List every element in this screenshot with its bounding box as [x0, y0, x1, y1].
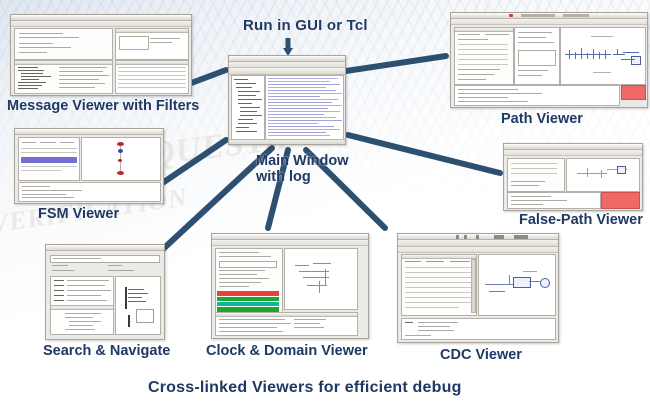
fsm-state-node[interactable] [118, 159, 122, 162]
label-message-viewer: Message Viewer with Filters [7, 98, 199, 114]
path-highlight-block [621, 85, 646, 100]
clock-domain-row-ok-2[interactable] [217, 302, 279, 306]
message-tree-pane[interactable] [14, 60, 113, 94]
menubar [504, 150, 642, 156]
connector-main-to-path [346, 56, 446, 71]
label-cdc-viewer: CDC Viewer [440, 347, 522, 363]
titlebar [504, 144, 642, 150]
window-clock-domain-viewer[interactable] [211, 233, 369, 339]
toolbar[interactable] [398, 240, 558, 247]
filter-form-pane[interactable] [14, 28, 113, 60]
label-false-path-viewer: False-Path Viewer [519, 212, 643, 228]
clock-domain-row-ok-1[interactable] [217, 297, 279, 301]
titlebar [11, 15, 191, 21]
path-list-pane[interactable] [514, 27, 560, 85]
filter-input-pane[interactable] [115, 28, 189, 60]
path-log-pane[interactable] [454, 85, 620, 106]
search-input[interactable] [50, 255, 160, 263]
titlebar [15, 129, 163, 135]
false-path-highlight-block [601, 192, 640, 209]
cdc-table-pane[interactable] [401, 254, 477, 316]
window-cdc-viewer[interactable] [397, 233, 559, 343]
titlebar [451, 13, 647, 19]
false-path-schematic-pane[interactable] [566, 158, 640, 192]
label-main-window: Main Window with log [256, 153, 349, 185]
design-tree-pane[interactable] [231, 75, 265, 142]
clock-schematic-graphic [285, 249, 357, 309]
window-search-navigate[interactable] [45, 244, 165, 340]
toolbar[interactable] [229, 68, 345, 75]
log-pane[interactable] [265, 75, 344, 142]
path-schematic-graphic [561, 28, 645, 84]
titlebar [212, 234, 368, 240]
message-table-pane[interactable] [115, 60, 189, 94]
diagram-canvas: MENTOR QUESTA VERIFICATION Run in GUI or… [0, 0, 650, 402]
window-path-viewer[interactable] [450, 12, 648, 108]
label-search-navigate: Search & Navigate [43, 343, 170, 359]
navigate-graphic [116, 277, 160, 334]
fsm-state-table-pane[interactable] [18, 137, 80, 181]
label-main-window-line1: Main Window [256, 153, 349, 169]
false-path-schematic-graphic [567, 159, 639, 191]
label-main-window-line2: with log [256, 169, 311, 185]
statusbar [229, 139, 345, 144]
titlebar [46, 245, 164, 251]
down-arrow-icon [283, 38, 293, 56]
connector-main-to-falsepath [348, 135, 500, 173]
fsm-state-node[interactable] [118, 149, 123, 153]
cdc-log-pane[interactable] [401, 318, 556, 340]
clock-domain-row-error[interactable] [217, 291, 279, 296]
label-clock-domain-viewer: Clock & Domain Viewer [206, 343, 368, 359]
false-path-log-pane[interactable] [507, 192, 601, 209]
title-run-in-gui: Run in GUI or Tcl [243, 18, 368, 35]
fsm-state-node[interactable] [117, 171, 124, 175]
menubar [398, 247, 558, 253]
menubar [451, 19, 647, 25]
label-fsm-viewer: FSM Viewer [38, 206, 119, 222]
clock-report-pane[interactable] [215, 312, 358, 336]
window-message-viewer[interactable] [10, 14, 192, 96]
path-schematic-pane[interactable] [560, 27, 646, 85]
window-fsm-viewer[interactable] [14, 128, 164, 204]
window-main-window[interactable] [228, 55, 346, 145]
log-lines [266, 76, 343, 141]
menubar [11, 21, 191, 27]
caption-cross-linked: Cross-linked Viewers for efficient debug [148, 379, 462, 397]
cdc-schematic-graphic [479, 255, 555, 315]
clock-schematic-pane[interactable] [284, 248, 358, 310]
fsm-state-node[interactable] [117, 142, 124, 146]
search-schematic-pane[interactable] [115, 276, 161, 335]
fsm-diagram-pane[interactable] [81, 137, 161, 181]
window-false-path-viewer[interactable] [503, 143, 643, 211]
clock-domain-list-pane[interactable] [215, 248, 283, 322]
connector-main-to-fsm [158, 140, 226, 186]
label-path-viewer: Path Viewer [501, 111, 583, 127]
false-path-list-pane[interactable] [507, 158, 565, 192]
menubar [212, 240, 368, 246]
cdc-schematic-pane[interactable] [478, 254, 556, 316]
search-source-pane[interactable] [50, 305, 114, 335]
path-properties-pane[interactable] [454, 27, 514, 85]
titlebar [229, 56, 345, 62]
fsm-source-pane[interactable] [18, 182, 161, 202]
fsm-selected-row[interactable] [21, 157, 77, 163]
